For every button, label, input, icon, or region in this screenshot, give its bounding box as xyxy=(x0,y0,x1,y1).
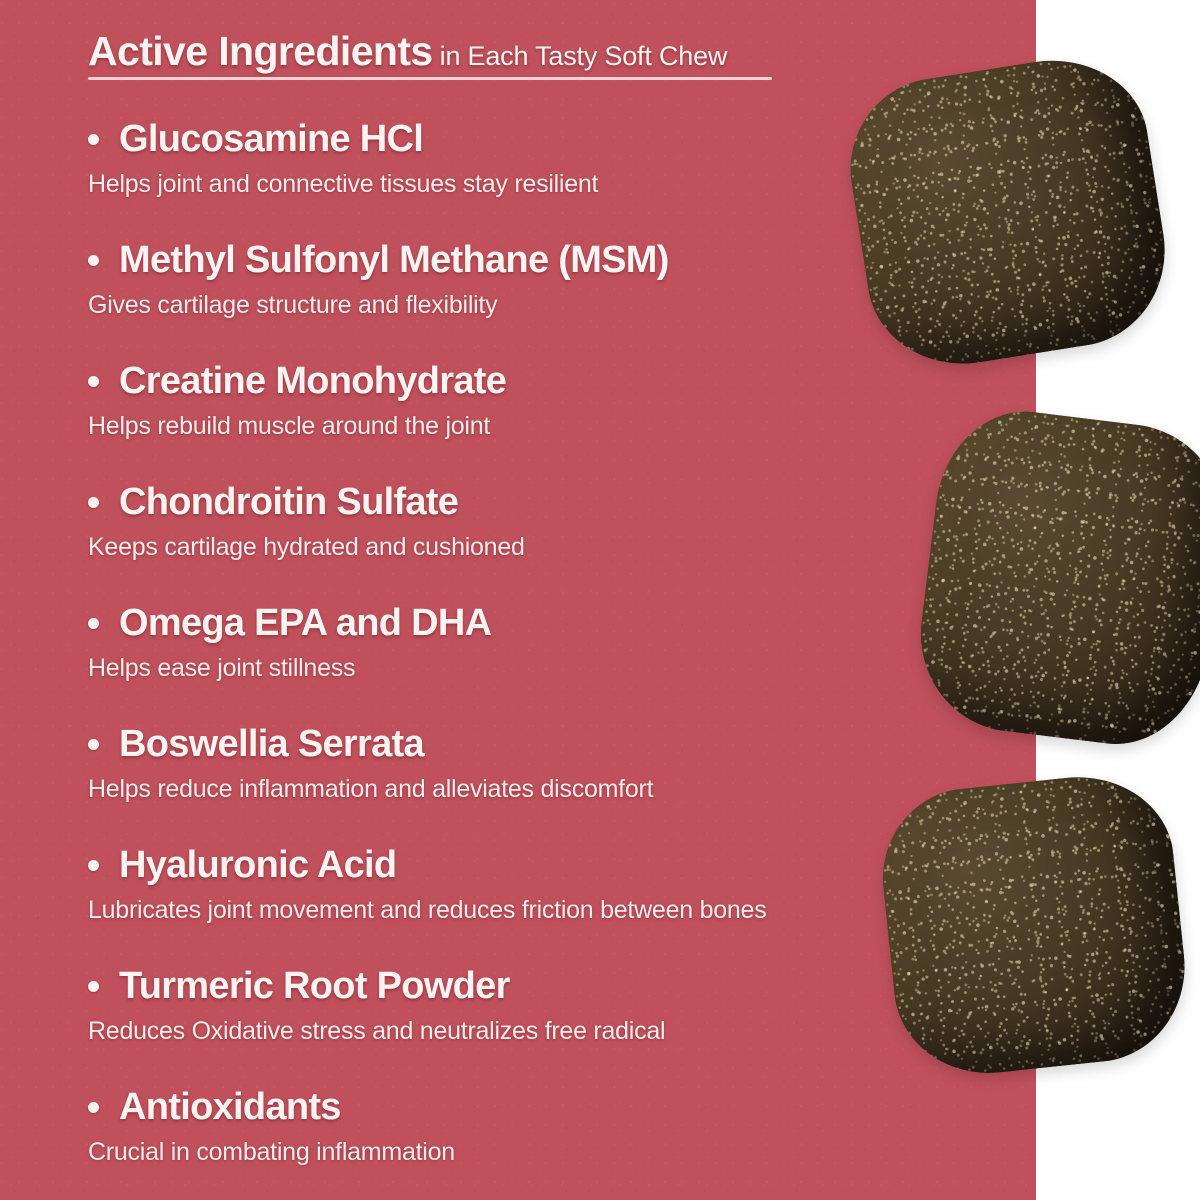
ingredient-description: Helps rebuild muscle around the joint xyxy=(88,412,490,441)
bullet-icon xyxy=(88,497,99,508)
ingredient-title-row: Hyaluronic Acid xyxy=(88,844,396,887)
ingredient-title-row: Methyl Sulfonyl Methane (MSM) xyxy=(88,239,669,282)
ingredient-description: Gives cartilage structure and flexibilit… xyxy=(88,291,497,320)
ingredient-item: Omega EPA and DHA Helps ease joint still… xyxy=(0,602,1036,723)
bullet-icon xyxy=(88,981,99,992)
ingredient-description: Reduces Oxidative stress and neutralizes… xyxy=(88,1017,665,1046)
ingredient-description: Helps ease joint stillness xyxy=(88,654,355,683)
ingredient-item: Chondroitin Sulfate Keeps cartilage hydr… xyxy=(0,481,1036,602)
bullet-icon xyxy=(88,1102,99,1113)
ingredient-item: Hyaluronic Acid Lubricates joint movemen… xyxy=(0,844,1036,965)
soft-chew-treat-image xyxy=(910,402,1200,755)
ingredient-name: Chondroitin Sulfate xyxy=(119,481,458,524)
ingredient-description: Helps joint and connective tissues stay … xyxy=(88,170,598,199)
ingredient-item: Antioxidants Crucial in combating inflam… xyxy=(0,1086,1036,1200)
ingredient-title-row: Chondroitin Sulfate xyxy=(88,481,458,524)
bullet-icon xyxy=(88,134,99,145)
ingredient-title-row: Boswellia Serrata xyxy=(88,723,424,766)
header-title-light: in Each Tasty Soft Chew xyxy=(433,41,728,71)
bullet-icon xyxy=(88,860,99,871)
ingredient-name: Omega EPA and DHA xyxy=(119,602,491,645)
ingredient-item: Creatine Monohydrate Helps rebuild muscl… xyxy=(0,360,1036,481)
soft-chew-treat-image xyxy=(837,46,1178,377)
ingredient-name: Methyl Sulfonyl Methane (MSM) xyxy=(119,239,669,282)
bullet-icon xyxy=(88,255,99,266)
header-underline-rule xyxy=(88,77,772,80)
ingredient-name: Hyaluronic Acid xyxy=(119,844,396,887)
header: Active Ingredientsin Each Tasty Soft Che… xyxy=(88,28,968,75)
ingredient-title-row: Turmeric Root Powder xyxy=(88,965,510,1008)
ingredient-description: Crucial in combating inflammation xyxy=(88,1138,455,1167)
bullet-icon xyxy=(88,376,99,387)
header-title-line: Active Ingredientsin Each Tasty Soft Che… xyxy=(88,28,968,75)
ingredient-description: Lubricates joint movement and reduces fr… xyxy=(88,896,766,925)
ingredient-item: Boswellia Serrata Helps reduce inflammat… xyxy=(0,723,1036,844)
ingredient-description: Helps reduce inflammation and alleviates… xyxy=(88,775,653,804)
ingredient-item: Turmeric Root Powder Reduces Oxidative s… xyxy=(0,965,1036,1086)
header-title-strong: Active Ingredients xyxy=(88,28,433,74)
ingredient-title-row: Creatine Monohydrate xyxy=(88,360,506,403)
ingredient-title-row: Omega EPA and DHA xyxy=(88,602,491,645)
bullet-icon xyxy=(88,739,99,750)
ingredient-name: Turmeric Root Powder xyxy=(119,965,510,1008)
ingredient-description: Keeps cartilage hydrated and cushioned xyxy=(88,533,525,562)
soft-chew-treat-image xyxy=(874,768,1194,1083)
infographic-canvas: Active Ingredientsin Each Tasty Soft Che… xyxy=(0,0,1200,1200)
ingredient-name: Glucosamine HCl xyxy=(119,118,423,161)
ingredient-name: Antioxidants xyxy=(119,1086,341,1129)
ingredient-name: Creatine Monohydrate xyxy=(119,360,506,403)
ingredient-title-row: Glucosamine HCl xyxy=(88,118,423,161)
bullet-icon xyxy=(88,618,99,629)
ingredient-name: Boswellia Serrata xyxy=(119,723,424,766)
ingredient-title-row: Antioxidants xyxy=(88,1086,341,1129)
